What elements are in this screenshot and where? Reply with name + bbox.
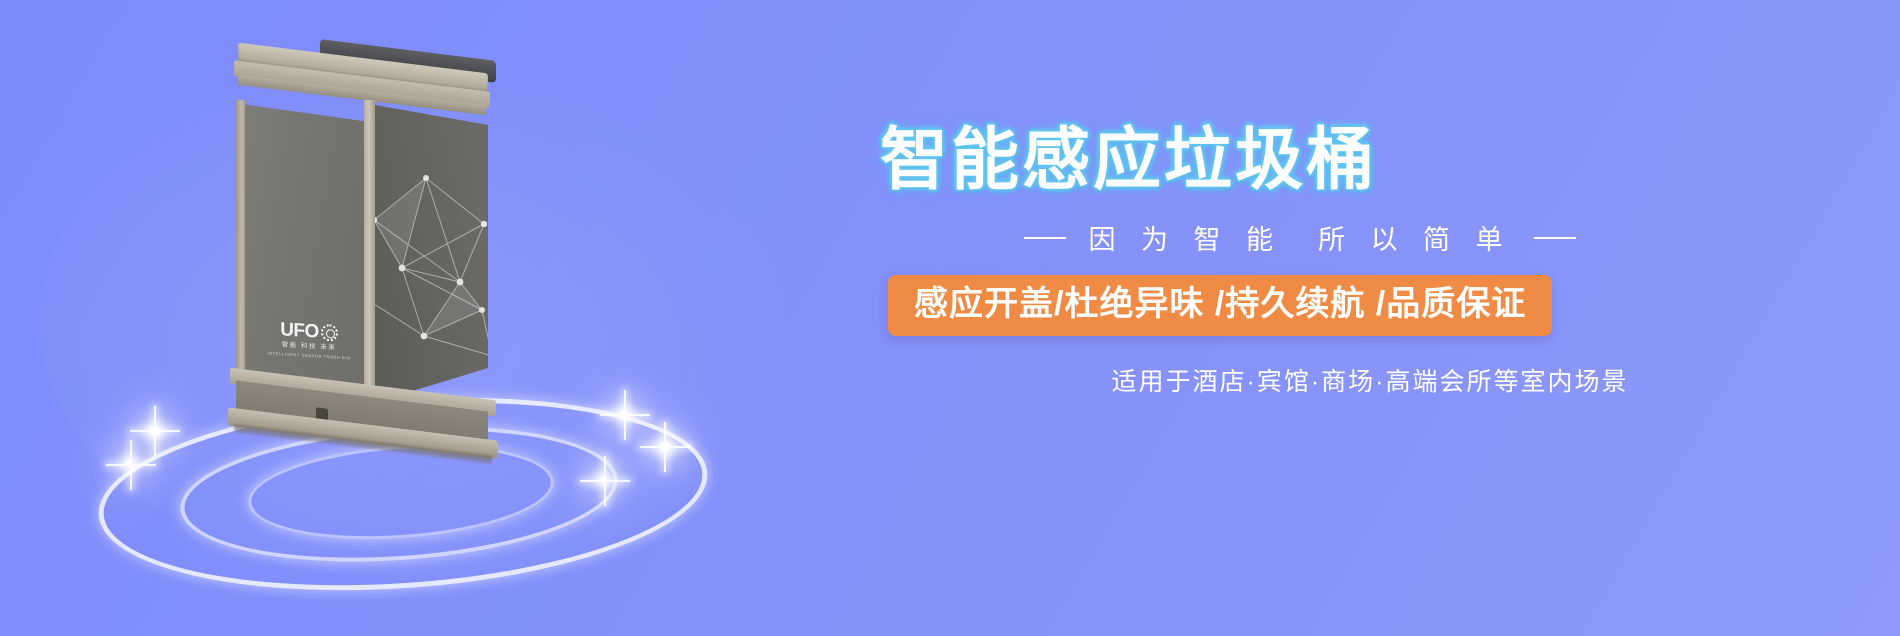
subheadline-text: 因 为 智 能 所 以 简 单 [1088, 218, 1511, 257]
network-pattern-icon [370, 150, 488, 380]
product-logo: UFO 智能 科技 未来 INTELLIGENT SENSOR TRASH BI… [264, 319, 354, 360]
sparkle-icon [126, 460, 132, 466]
gear-icon [321, 324, 338, 342]
subheadline: 因 为 智 能 所 以 简 单 [750, 218, 1850, 257]
rule-left [1024, 237, 1066, 239]
rule-right [1534, 237, 1576, 239]
headline: 智能感应垃圾桶 [880, 126, 1860, 194]
tagline: 适用于酒店·宾馆·商场·高端会所等室内场景 [880, 362, 1860, 398]
product-illustration: UFO 智能 科技 未来 INTELLIGENT SENSOR TRASH BI… [60, 20, 800, 620]
feature-badge-text: 感应开盖/杜绝异味 /持久续航 /品质保证 [914, 285, 1526, 323]
sparkle-icon [620, 410, 628, 418]
trash-bin-graphic: UFO 智能 科技 未来 INTELLIGENT SENSOR TRASH BI… [208, 42, 528, 452]
bin-left-edge-trim [236, 100, 245, 396]
bin-corner-trim [364, 100, 375, 403]
sparkle-icon [150, 426, 160, 436]
sparkle-icon [660, 442, 670, 452]
promo-banner: UFO 智能 科技 未来 INTELLIGENT SENSOR TRASH BI… [0, 0, 1900, 636]
logo-wordmark: UFO [280, 320, 319, 341]
feature-badge: 感应开盖/杜绝异味 /持久续航 /品质保证 [888, 275, 1552, 336]
sparkle-icon [600, 476, 606, 482]
banner-copy: 智能感应垃圾桶 因 为 智 能 所 以 简 单 感应开盖/杜绝异味 /持久续航 … [880, 0, 1860, 636]
bin-side-panel [370, 104, 488, 404]
